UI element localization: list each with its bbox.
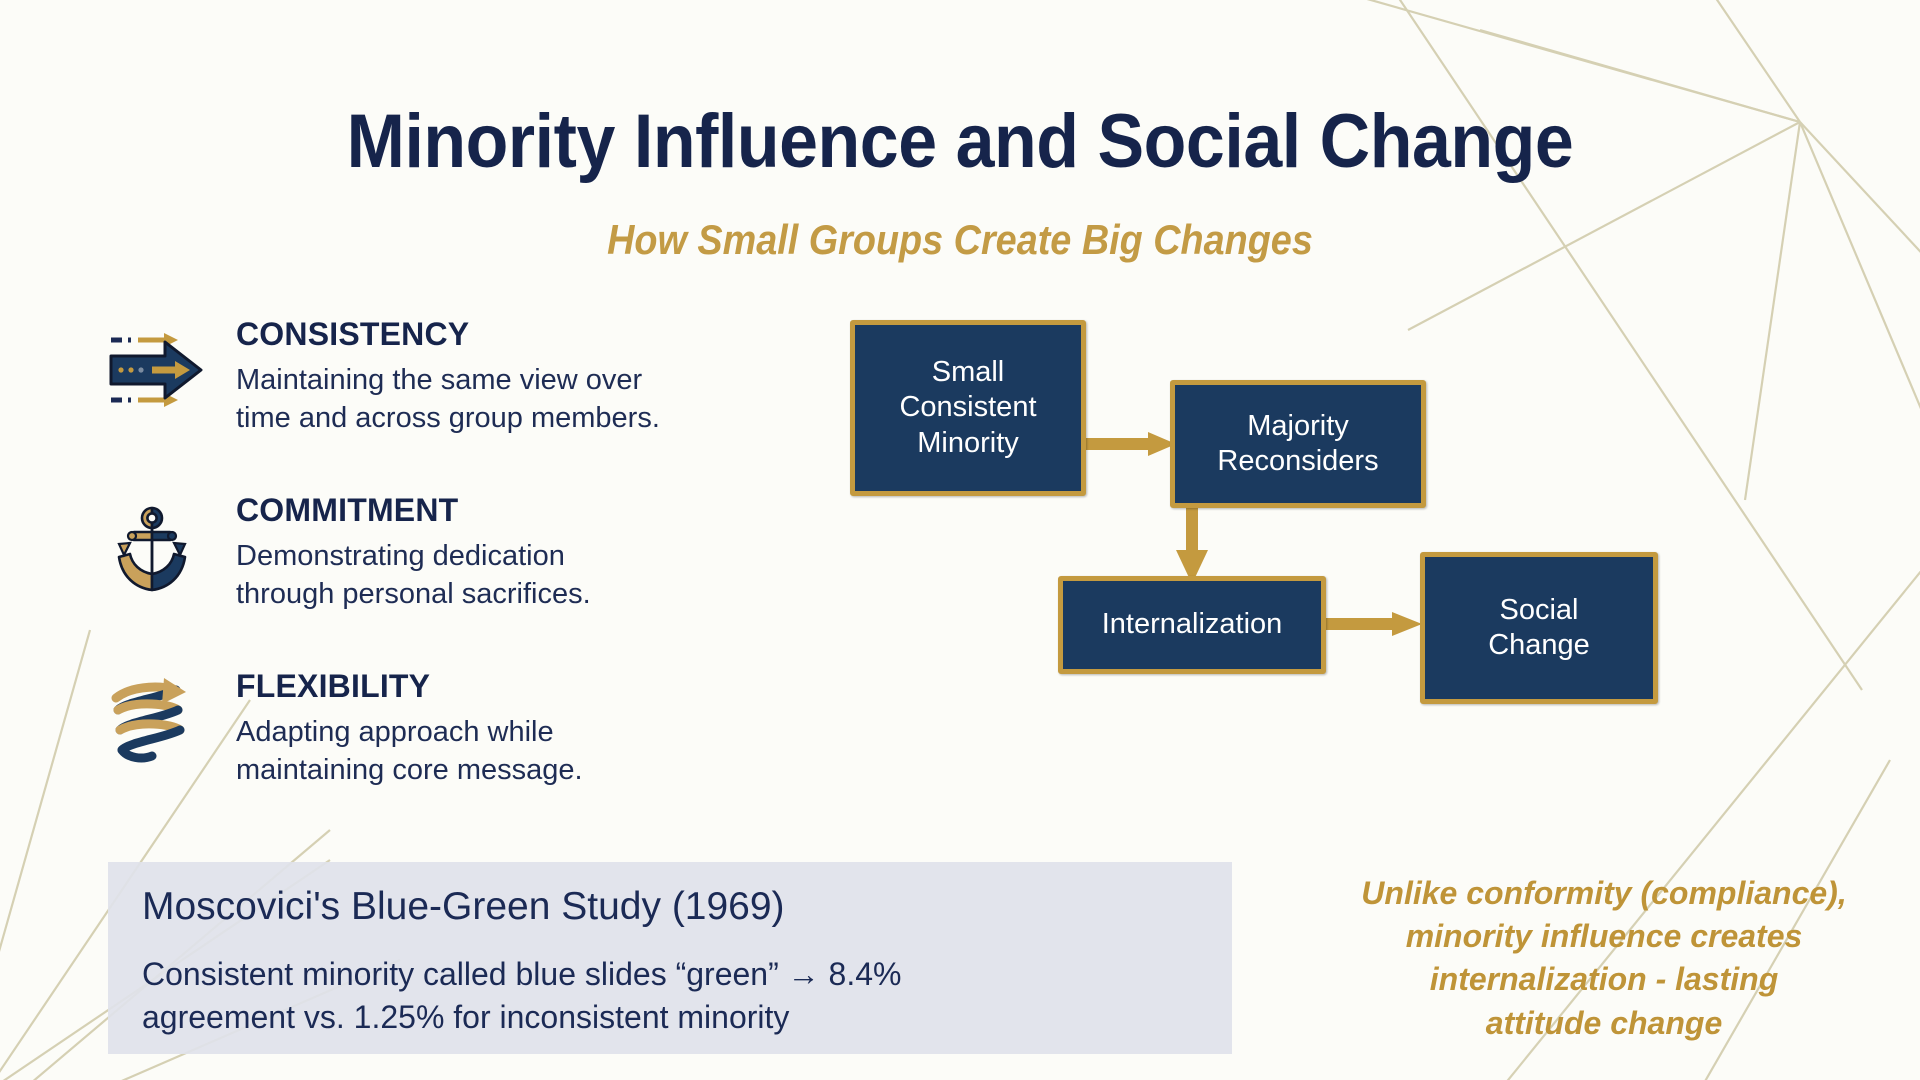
flow-node-internalization[interactable]: Internalization (1058, 576, 1326, 674)
feature-text-block: CONSISTENCY Maintaining the same view ov… (236, 318, 788, 437)
flow-node-small-consistent-minority[interactable]: Small Consistent Minority (850, 320, 1086, 496)
feature-text-block: COMMITMENT Demonstrating dedication thro… (236, 494, 788, 613)
page-subtitle: How Small Groups Create Big Changes (96, 216, 1824, 264)
study-callout-title: Moscovici's Blue-Green Study (1969) (142, 886, 1198, 929)
feature-description: Adapting approach while maintaining core… (236, 713, 788, 790)
feature-item-consistency: CONSISTENCY Maintaining the same view ov… (108, 318, 788, 494)
feature-description: Demonstrating dedication through persona… (236, 537, 788, 614)
study-callout-box: Moscovici's Blue-Green Study (1969) Cons… (108, 862, 1232, 1054)
process-flow-diagram: Small Consistent Minority Majority Recon… (850, 320, 1870, 740)
feature-item-commitment: COMMITMENT Demonstrating dedication thro… (108, 494, 788, 670)
anchor-icon (108, 500, 198, 592)
feature-title: FLEXIBILITY (236, 670, 788, 704)
flow-node-social-change[interactable]: Social Change (1420, 552, 1658, 704)
feature-item-flexibility: FLEXIBILITY Adapting approach while main… (108, 670, 788, 846)
feature-description: Maintaining the same view over time and … (236, 361, 788, 438)
flow-node-majority-reconsiders[interactable]: Majority Reconsiders (1170, 380, 1426, 508)
feature-title: COMMITMENT (236, 494, 788, 528)
dashed-arrow-icon (108, 324, 198, 416)
feature-list: CONSISTENCY Maintaining the same view ov… (108, 318, 788, 846)
feature-text-block: FLEXIBILITY Adapting approach while main… (236, 670, 788, 789)
page-title: Minority Influence and Social Change (77, 98, 1843, 185)
key-takeaway-note: Unlike conformity (compliance), minority… (1336, 872, 1872, 1045)
slide-canvas: Minority Influence and Social Change How… (0, 0, 1920, 1080)
study-callout-body: Consistent minority called blue slides “… (142, 953, 1198, 1040)
spiral-arrow-icon (108, 676, 198, 768)
feature-title: CONSISTENCY (236, 318, 788, 352)
